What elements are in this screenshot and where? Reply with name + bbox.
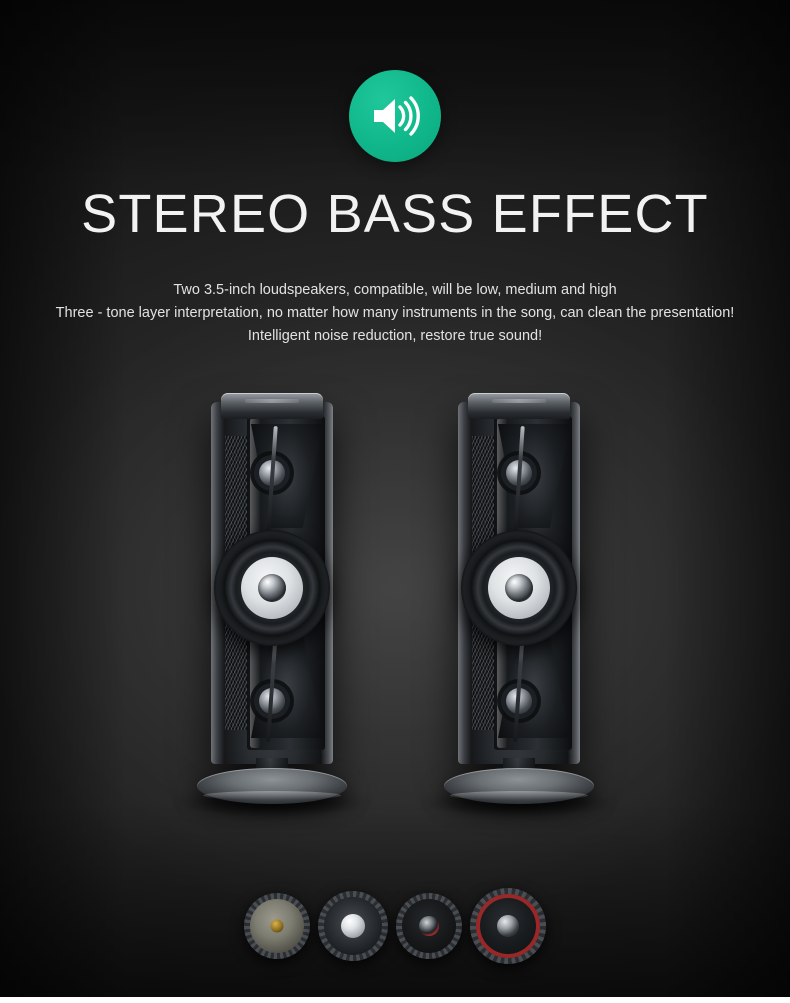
description-block: Two 3.5-inch loudspeakers, compatible, w…: [0, 279, 790, 348]
driver-thumbnail-row: [0, 888, 790, 964]
product-banner: STEREO BASS EFFECT Two 3.5-inch loudspea…: [0, 0, 790, 1003]
description-line-2: Three - tone layer interpretation, no ma…: [0, 302, 790, 325]
description-line-3: Intelligent noise reduction, restore tru…: [0, 325, 790, 348]
speaker-volume-icon: [349, 70, 441, 162]
driver-center-cap: [419, 916, 439, 936]
driver-center-cap: [271, 920, 284, 933]
driver-center-cap: [497, 915, 519, 937]
driver-red-ring-large: [470, 888, 546, 964]
bottom-white-strip: [0, 997, 790, 1003]
driver-olive-cone: [244, 893, 310, 959]
description-line-1: Two 3.5-inch loudspeakers, compatible, w…: [0, 279, 790, 302]
page-title: STEREO BASS EFFECT: [0, 183, 790, 245]
driver-silver-dome: [318, 891, 388, 961]
driver-red-ring-small: [396, 893, 462, 959]
driver-center-cap: [341, 914, 365, 938]
